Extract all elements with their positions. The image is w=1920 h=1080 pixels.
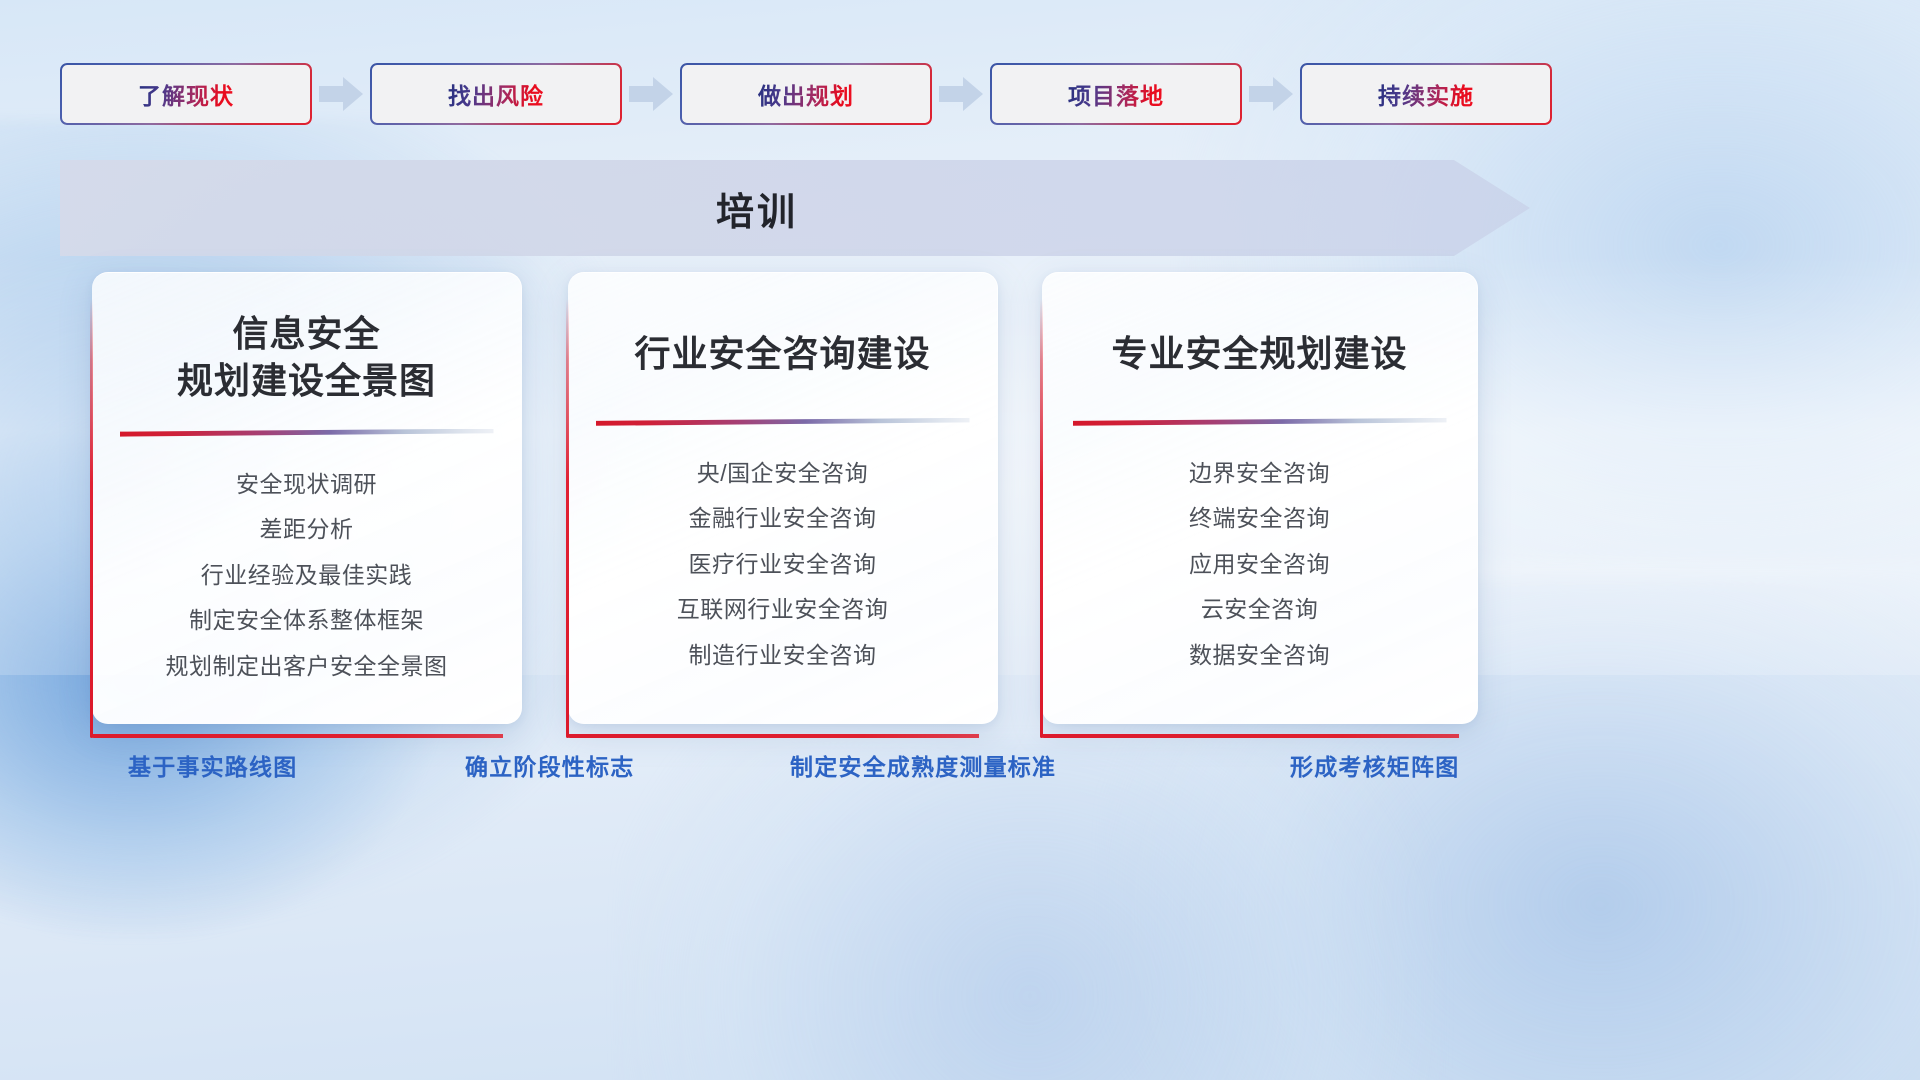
- training-banner: 培训: [60, 160, 1530, 256]
- arrow-right-icon: [622, 74, 680, 114]
- list-item: 安全现状调研: [236, 467, 377, 502]
- step-box-2[interactable]: 找出风险: [370, 63, 622, 125]
- list-item: 互联网行业安全咨询: [677, 592, 889, 627]
- list-item: 边界安全咨询: [1189, 456, 1330, 491]
- step-box-1[interactable]: 了解现状: [60, 63, 312, 125]
- step-label-2: 找出风险: [448, 77, 544, 111]
- step-box-3[interactable]: 做出规划: [680, 63, 932, 125]
- caption-assessment-matrix: 形成考核矩阵图: [1290, 748, 1459, 782]
- list-item: 终端安全咨询: [1189, 501, 1330, 536]
- list-item: 行业经验及最佳实践: [201, 558, 413, 593]
- list-item: 医疗行业安全咨询: [689, 547, 877, 582]
- step-label-1: 了解现状: [138, 77, 234, 111]
- list-item: 央/国企安全咨询: [697, 456, 868, 491]
- step-label-3: 做出规划: [758, 77, 854, 111]
- card-title: 专业安全规划建设: [1111, 331, 1407, 378]
- list-item: 金融行业安全咨询: [689, 501, 877, 536]
- step-label-4: 项目落地: [1068, 77, 1164, 111]
- banner-title: 培训: [60, 160, 1454, 256]
- card-item-list: 边界安全咨询 终端安全咨询 应用安全咨询 云安全咨询 数据安全咨询: [1042, 456, 1477, 673]
- arrow-right-icon: [1242, 74, 1300, 114]
- list-item: 数据安全咨询: [1189, 638, 1330, 673]
- background-blob-bottom-center: [620, 740, 1440, 1080]
- list-item: 制造行业安全咨询: [689, 638, 877, 673]
- card-item-list: 央/国企安全咨询 金融行业安全咨询 医疗行业安全咨询 互联网行业安全咨询 制造行…: [568, 456, 997, 673]
- caption-maturity-standard: 制定安全成熟度测量标准: [790, 748, 1056, 782]
- card-divider: [596, 418, 970, 426]
- service-cards: 信息安全 规划建设全景图 安全现状调研 差距分析 行业经验及最佳实践 制定安全体…: [0, 272, 1920, 724]
- card-divider: [120, 429, 494, 437]
- arrow-right-icon: [312, 74, 370, 114]
- card-bottom-accent: [1040, 734, 1459, 738]
- card-item-list: 安全现状调研 差距分析 行业经验及最佳实践 制定安全体系整体框架 规划制定出客户…: [92, 467, 521, 684]
- list-item: 差距分析: [260, 512, 354, 547]
- arrow-right-icon: [932, 74, 990, 114]
- card-title: 信息安全 规划建设全景图: [177, 311, 436, 405]
- card-information-security-blueprint[interactable]: 信息安全 规划建设全景图 安全现状调研 差距分析 行业经验及最佳实践 制定安全体…: [92, 272, 522, 724]
- list-item: 制定安全体系整体框架: [189, 603, 424, 638]
- caption-row: 基于事实路线图 确立阶段性标志 制定安全成熟度测量标准 形成考核矩阵图: [0, 748, 1920, 788]
- caption-milestones: 确立阶段性标志: [465, 748, 634, 782]
- card-bottom-accent: [90, 734, 503, 738]
- card-industry-security-consulting[interactable]: 行业安全咨询建设 央/国企安全咨询 金融行业安全咨询 医疗行业安全咨询 互联网行…: [568, 272, 998, 724]
- list-item: 应用安全咨询: [1189, 547, 1330, 582]
- card-professional-security-planning[interactable]: 专业安全规划建设 边界安全咨询 终端安全咨询 应用安全咨询 云安全咨询 数据安全…: [1042, 272, 1478, 724]
- step-label-5: 持续实施: [1378, 77, 1474, 111]
- process-steps: 了解现状 找出风险 做出规划 项目落地 持续实施: [60, 63, 1860, 125]
- list-item: 云安全咨询: [1201, 592, 1319, 627]
- step-box-4[interactable]: 项目落地: [990, 63, 1242, 125]
- card-divider: [1073, 418, 1447, 426]
- card-bottom-accent: [566, 734, 979, 738]
- list-item: 规划制定出客户安全全景图: [166, 649, 448, 684]
- card-title: 行业安全咨询建设: [634, 331, 930, 378]
- step-box-5[interactable]: 持续实施: [1300, 63, 1552, 125]
- caption-roadmap: 基于事实路线图: [128, 748, 297, 782]
